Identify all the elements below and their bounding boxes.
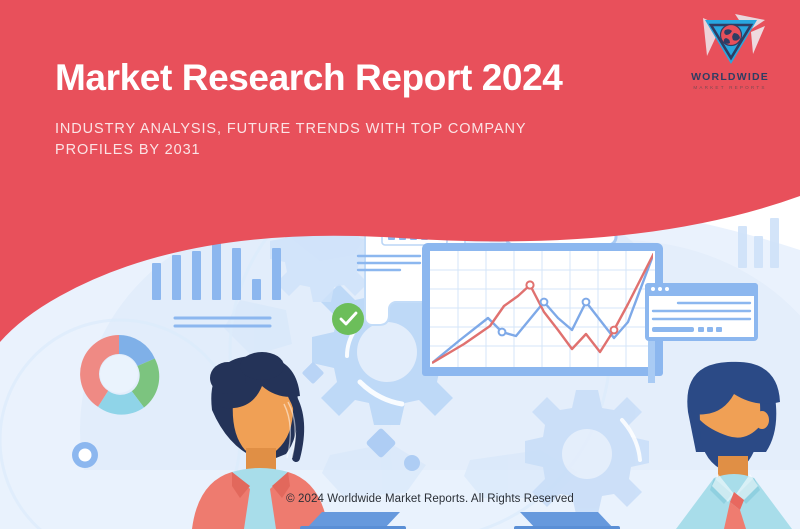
brand-tagline: MARKET REPORTS (682, 85, 778, 90)
window-panel-right (645, 283, 758, 341)
page-title: Market Research Report 2024 (55, 58, 675, 99)
brand-logo[interactable]: WORLDWIDE MARKET REPORTS (682, 12, 778, 104)
brand-name: WORLDWIDE (682, 71, 778, 83)
check-badge-icon (332, 303, 364, 335)
dot-shape (404, 455, 420, 471)
page-subtitle: INDUSTRY ANALYSIS, FUTURE TRENDS WITH TO… (55, 119, 575, 161)
header-content: Market Research Report 2024 INDUSTRY ANA… (55, 58, 675, 161)
line-chart-screen (422, 243, 663, 376)
poster-root: Market Research Report 2024 INDUSTRY ANA… (0, 0, 800, 529)
footer: © 2024 Worldwide Market Reports. All Rig… (0, 489, 800, 507)
globe-triangle-logo-icon (691, 12, 769, 70)
copyright-text: © 2024 Worldwide Market Reports. All Rig… (286, 493, 574, 505)
small-ring-icon (72, 442, 98, 468)
